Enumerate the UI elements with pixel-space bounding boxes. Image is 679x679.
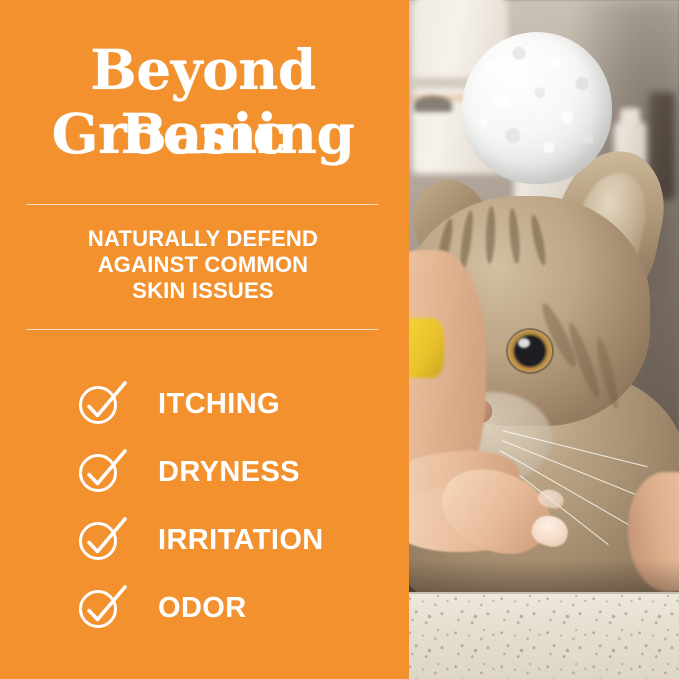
bottle-logo-text: [412, 104, 468, 160]
benefit-label: ITCHING: [158, 388, 280, 421]
cat-eye-right-highlight: [518, 338, 530, 348]
foam-bubbles: [462, 32, 612, 184]
benefit-item-dryness: DRYNESS: [78, 438, 398, 506]
check-circle-icon: [78, 584, 130, 632]
yellow-object: [406, 318, 444, 378]
subtitle-block: NATURALLY DEFEND AGAINST COMMON SKIN ISS…: [18, 226, 388, 304]
benefit-label: IRRITATION: [158, 524, 324, 557]
cat-eye-right: [508, 330, 552, 372]
info-panel: Beyond Basic Grooming NATURALLY DEFEND A…: [0, 0, 406, 679]
check-circle-icon: [78, 380, 130, 428]
benefit-label: DRYNESS: [158, 456, 300, 489]
subtitle-line-1: NATURALLY DEFEND: [18, 226, 388, 252]
photo-left-edge-strip: [406, 0, 409, 679]
benefits-list: ITCHING DRYNESS IRRITA: [78, 370, 398, 642]
divider-top: [26, 204, 378, 205]
divider-bottom: [26, 329, 378, 330]
subtitle-line-2: AGAINST COMMON: [18, 252, 388, 278]
subtitle-line-3: SKIN ISSUES: [18, 278, 388, 304]
countertop: [406, 592, 679, 679]
countertop-edge: [406, 592, 679, 594]
counter-shadow: [406, 560, 679, 594]
benefit-item-irritation: IRRITATION: [78, 506, 398, 574]
headline-line-2: Grooming: [0, 102, 406, 166]
benefit-item-itching: ITCHING: [78, 370, 398, 438]
benefit-item-odor: ODOR: [78, 574, 398, 642]
benefit-label: ODOR: [158, 592, 247, 625]
grooming-photo: [406, 0, 679, 679]
check-circle-icon: [78, 516, 130, 564]
check-circle-icon: [78, 448, 130, 496]
product-feature-graphic: Beyond Basic Grooming NATURALLY DEFEND A…: [0, 0, 679, 679]
